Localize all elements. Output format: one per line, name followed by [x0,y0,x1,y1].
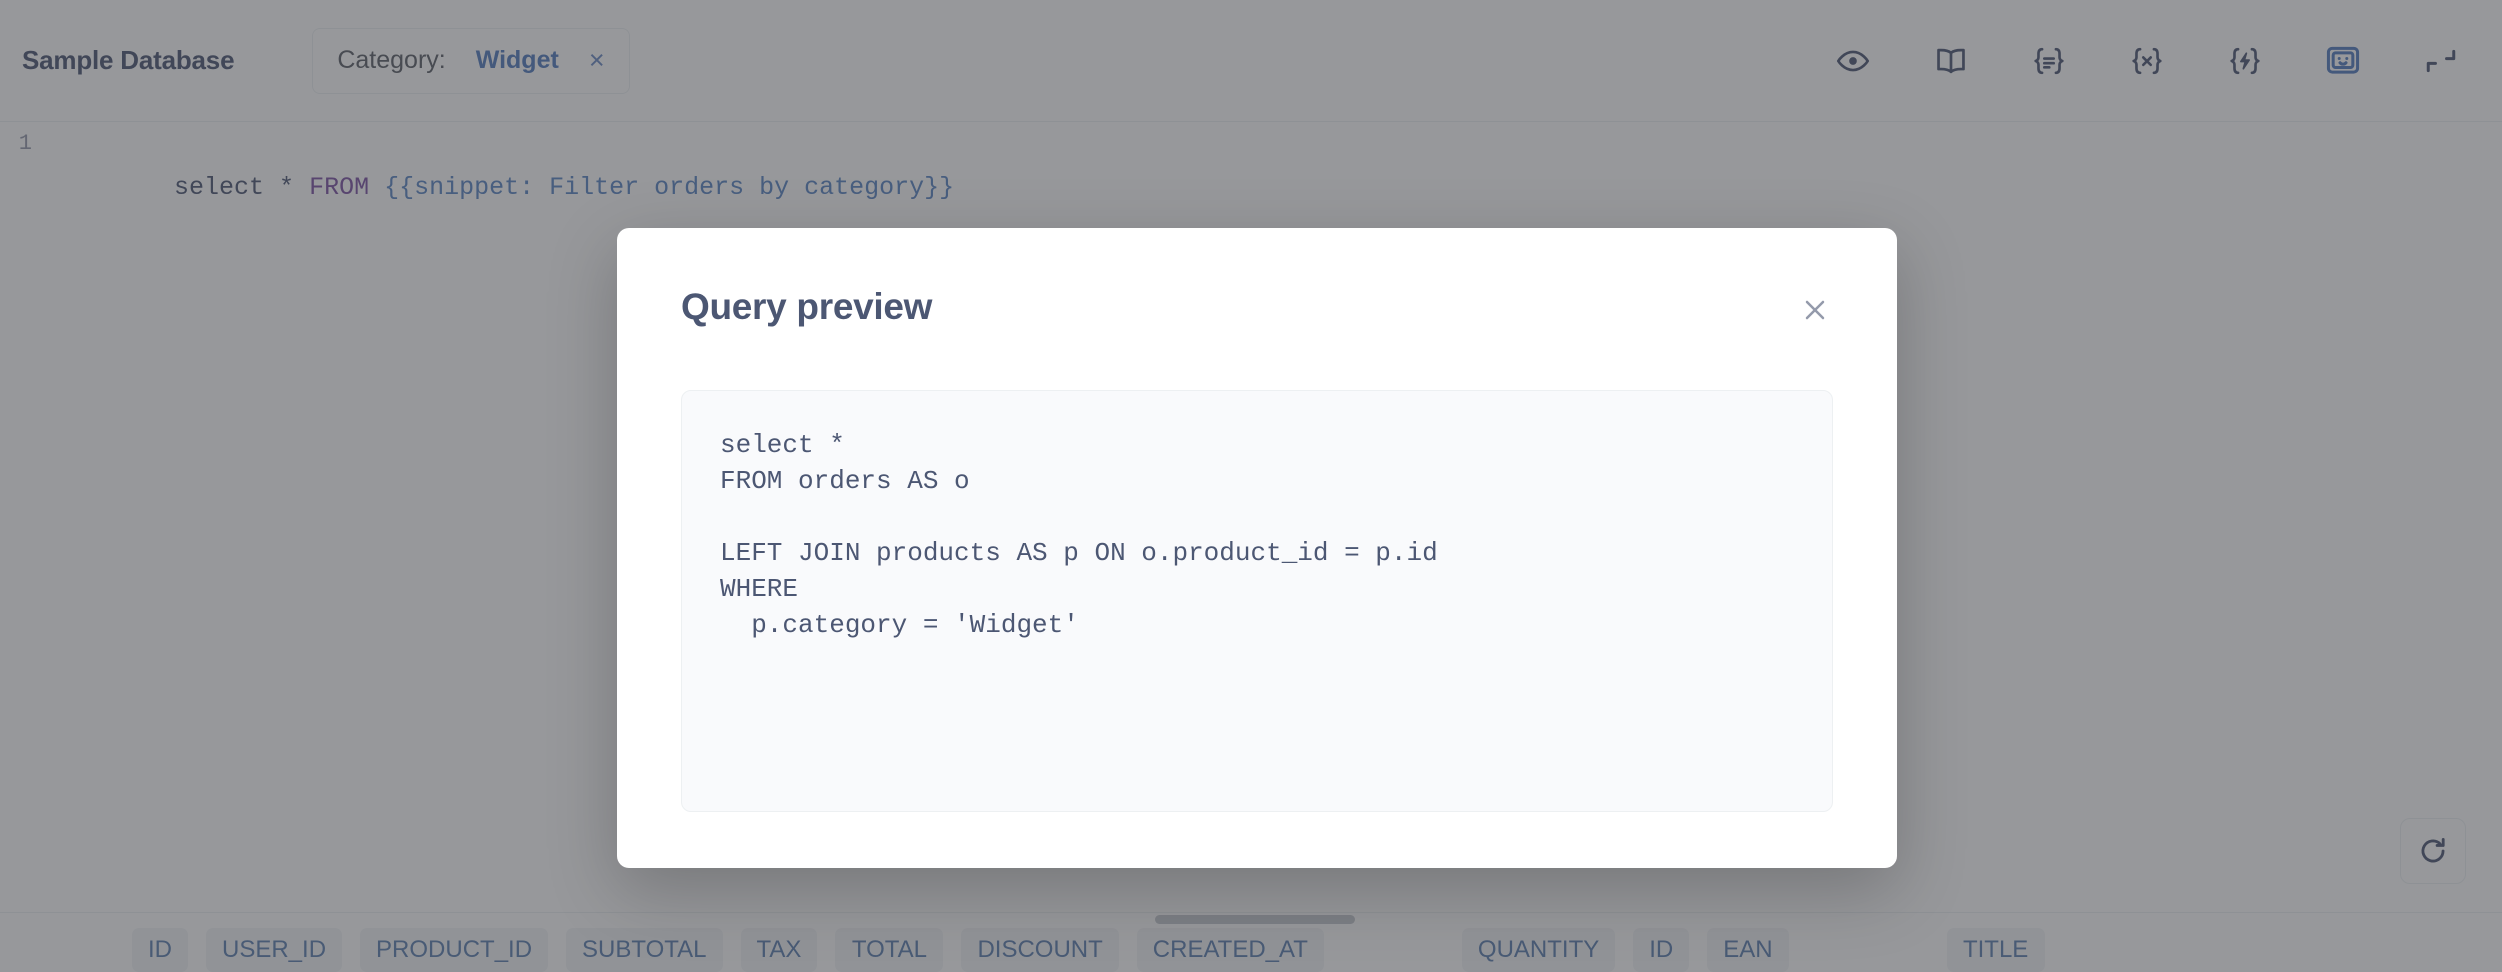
close-icon[interactable] [1795,290,1835,330]
query-preview-sql: select * FROM orders AS o LEFT JOIN prod… [720,427,1794,643]
query-preview-modal: Query preview select * FROM orders AS o … [617,228,1897,868]
native-query-editor-page: Sample Database Category: Widget × [0,0,2502,972]
query-preview-code-block: select * FROM orders AS o LEFT JOIN prod… [681,390,1833,812]
modal-title: Query preview [681,286,932,328]
modal-header: Query preview [617,228,1897,328]
